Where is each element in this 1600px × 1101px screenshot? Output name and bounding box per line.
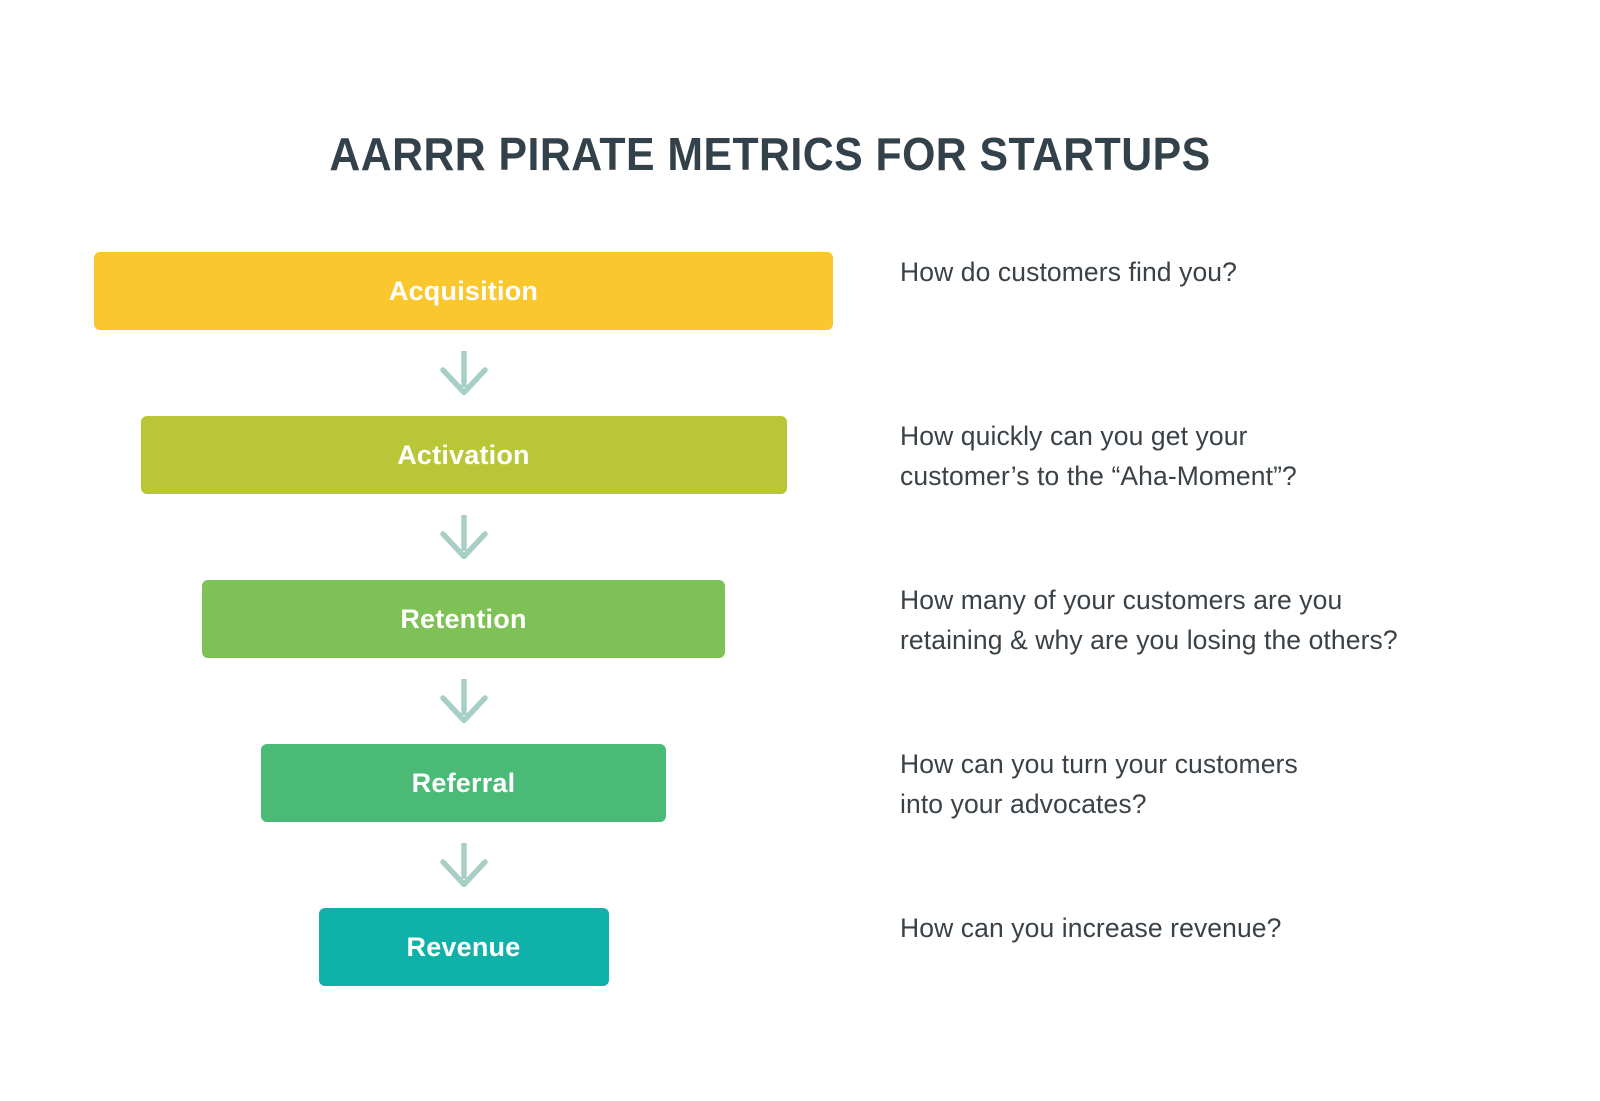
funnel-bar-label: Retention [400, 606, 526, 633]
funnel-bar-label: Referral [412, 770, 516, 797]
description-line: retaining & why are you losing the other… [900, 620, 1398, 660]
funnel-bar-revenue[interactable]: Revenue [319, 908, 609, 986]
arrow-down-icon [440, 843, 488, 887]
description-revenue: How can you increase revenue? [900, 908, 1281, 948]
funnel-bar-acquisition[interactable]: Acquisition [94, 252, 833, 330]
funnel-bar-activation[interactable]: Activation [141, 416, 787, 494]
description-row: How many of your customers are you retai… [900, 580, 1540, 744]
description-row: How can you increase revenue? [900, 908, 1540, 986]
arrow-down-icon [440, 515, 488, 559]
funnel-connector-3 [0, 658, 925, 744]
description-row: How quickly can you get your customer’s … [900, 416, 1540, 580]
description-line: How do customers find you? [900, 252, 1237, 292]
funnel-bar-label: Activation [397, 442, 530, 469]
description-acquisition: How do customers find you? [900, 252, 1237, 292]
description-line: How can you increase revenue? [900, 908, 1281, 948]
funnel-connector-1 [0, 330, 925, 416]
funnel-bar-label: Acquisition [389, 278, 538, 305]
funnel-stage-revenue: Revenue [0, 908, 925, 986]
funnel-connector-4 [0, 822, 925, 908]
arrow-down-icon [440, 679, 488, 723]
description-line: How many of your customers are you [900, 580, 1398, 620]
arrow-down-icon [440, 351, 488, 395]
description-line: customer’s to the “Aha-Moment”? [900, 456, 1297, 496]
funnel-bar-label: Revenue [407, 934, 521, 961]
funnel-stage-activation: Activation [0, 416, 925, 494]
funnel-stage-referral: Referral [0, 744, 925, 822]
funnel-stage-acquisition: Acquisition [0, 252, 925, 330]
funnel-connector-2 [0, 494, 925, 580]
funnel-bar-retention[interactable]: Retention [202, 580, 725, 658]
funnel-diagram: Acquisition Activation Retention [0, 252, 925, 986]
description-row: How can you turn your customers into you… [900, 744, 1540, 908]
description-line: How can you turn your customers [900, 744, 1298, 784]
funnel-stage-retention: Retention [0, 580, 925, 658]
funnel-bar-referral[interactable]: Referral [261, 744, 666, 822]
description-activation: How quickly can you get your customer’s … [900, 416, 1297, 496]
description-retention: How many of your customers are you retai… [900, 580, 1398, 660]
description-line: into your advocates? [900, 784, 1298, 824]
description-referral: How can you turn your customers into you… [900, 744, 1298, 824]
page-title: AARRR PIRATE METRICS FOR STARTUPS [54, 127, 1486, 181]
description-line: How quickly can you get your [900, 416, 1297, 456]
description-column: How do customers find you? How quickly c… [900, 252, 1540, 986]
description-row: How do customers find you? [900, 252, 1540, 416]
